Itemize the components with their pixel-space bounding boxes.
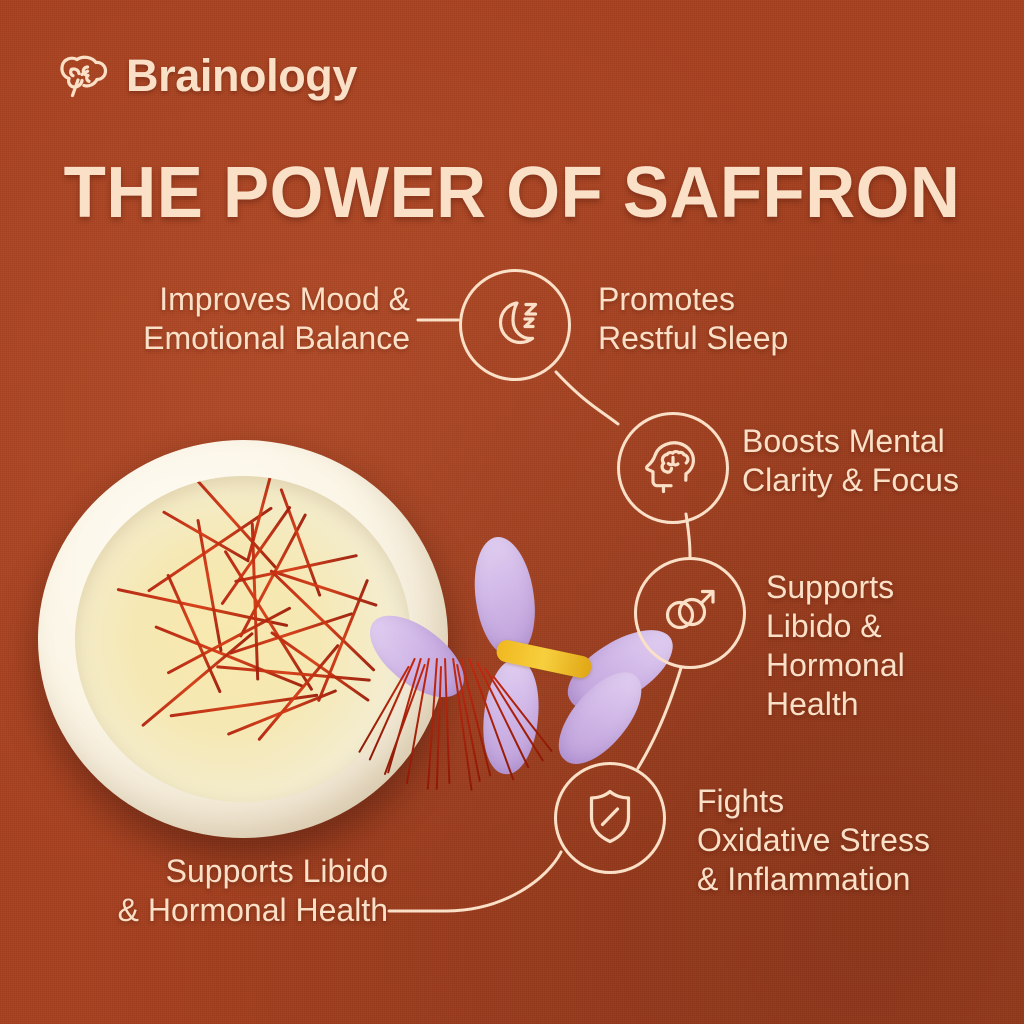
brain-head-icon	[640, 433, 706, 504]
benefit-label-libido-bottom: Supports Libido & Hormonal Health	[36, 852, 388, 930]
bowl-interior	[75, 476, 411, 802]
benefit-label-sleep: Promotes Restful Sleep	[598, 280, 928, 358]
benefit-icon-oxidative[interactable]	[554, 762, 666, 874]
infographic-canvas: Brainology THE POWER OF SAFFRON	[0, 0, 1024, 1024]
benefit-label-oxidative: Fights Oxidative Stress & Inflammation	[697, 782, 1024, 899]
benefit-icon-libido[interactable]	[634, 557, 746, 669]
mars-venus-icon	[658, 579, 722, 648]
stigma-threads	[408, 658, 568, 798]
page-title: THE POWER OF SAFFRON	[20, 152, 1003, 234]
connector-shield-to-bottom-label	[389, 852, 561, 911]
shield-slash-icon	[580, 785, 640, 852]
benefit-label-clarity: Boosts Mental Clarity & Focus	[742, 422, 1024, 500]
benefit-label-libido: Supports Libido & Hormonal Health	[766, 568, 1024, 724]
moon-zzz-icon	[483, 291, 547, 360]
brand-logo: Brainology	[58, 52, 357, 98]
brand-name: Brainology	[126, 53, 357, 98]
saffron-flower	[418, 540, 648, 790]
brain-icon	[58, 52, 110, 98]
benefit-label-mood: Improves Mood & Emotional Balance	[50, 280, 410, 358]
benefit-icon-sleep[interactable]	[459, 269, 571, 381]
benefit-icon-clarity[interactable]	[617, 412, 729, 524]
connector-sleep-to-clarity	[556, 372, 618, 424]
